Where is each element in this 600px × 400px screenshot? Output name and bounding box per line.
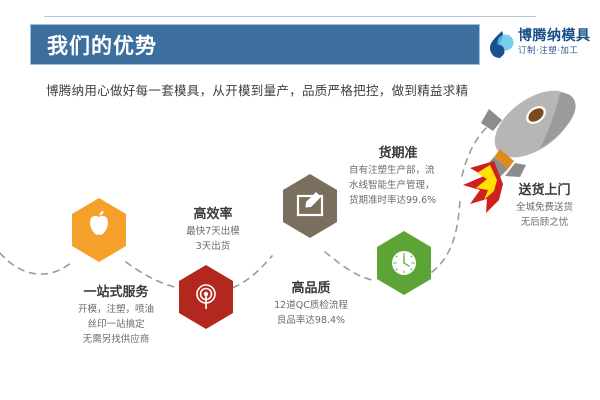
- node-text-high-quality: 高品质 12道QC质检流程 良品率达98.4%: [236, 280, 386, 328]
- hexagon-one-stop-service[interactable]: [72, 198, 126, 262]
- node-desc-line: 水线智能生产管理，: [349, 178, 469, 193]
- slide-canvas: 我们的优势 博腾纳模具 订制·注塑·加工 博腾纳用心做好每一套模具，从开模到量产…: [0, 0, 600, 400]
- brand-logo: 博腾纳模具 订制·注塑·加工: [488, 28, 596, 62]
- node-desc-line: 无需另找供应商: [46, 332, 186, 347]
- logo-text-block: 博腾纳模具 订制·注塑·加工: [518, 28, 591, 57]
- node-title: 一站式服务: [46, 284, 186, 302]
- hexagon-high-efficiency[interactable]: [179, 265, 233, 329]
- node-text-door-to-door-delivery: 送货上门 全城免费送货 无后顾之忧: [492, 182, 597, 230]
- node-title: 高品质: [236, 280, 386, 298]
- target-icon: [197, 285, 215, 303]
- clock-icon: [392, 251, 416, 275]
- node-text-one-stop-service: 一站式服务 开模，注塑，喷油 丝印一站搞定 无需另找供应商: [46, 284, 186, 347]
- node-desc-line: 全城免费送货: [492, 200, 597, 215]
- logo-droplet-icon: [488, 30, 516, 60]
- node-desc-line: 无后顾之忧: [492, 215, 597, 230]
- edit-board-icon: [298, 192, 322, 215]
- node-desc-line: 货期准时率达99.6%: [349, 193, 469, 208]
- node-title: 货期准: [349, 145, 447, 163]
- page-title: 我们的优势: [47, 30, 157, 60]
- node-desc-line: 丝印一站搞定: [46, 317, 186, 332]
- page-subtitle: 博腾纳用心做好每一套模具，从开模到量产，品质严格把控，做到精益求精: [46, 80, 468, 99]
- target-icon-stem: [205, 294, 207, 309]
- node-title: 高效率: [158, 206, 268, 224]
- node-desc-line: 3天出货: [158, 239, 268, 254]
- node-desc-line: 良品率达98.4%: [236, 313, 386, 328]
- logo-tagline: 订制·注塑·加工: [518, 45, 591, 57]
- hexagon-high-quality[interactable]: [283, 174, 337, 238]
- node-desc-line: 自有注塑生产部，流: [349, 163, 469, 178]
- target-icon-center: [204, 292, 208, 296]
- node-title: 送货上门: [492, 182, 597, 200]
- node-desc-line: 最快7天出模: [158, 224, 268, 239]
- node-text-on-time-delivery: 货期准 自有注塑生产部，流 水线智能生产管理， 货期准时率达99.6%: [349, 145, 469, 208]
- node-desc-line: 12道QC质检流程: [236, 298, 386, 313]
- top-divider: [44, 16, 536, 17]
- header-bar: 我们的优势: [30, 24, 480, 65]
- node-text-high-efficiency: 高效率 最快7天出模 3天出货: [158, 206, 268, 254]
- apple-icon: [90, 211, 108, 235]
- logo-name: 博腾纳模具: [518, 28, 591, 45]
- node-desc-line: 开模，注塑，喷油: [46, 302, 186, 317]
